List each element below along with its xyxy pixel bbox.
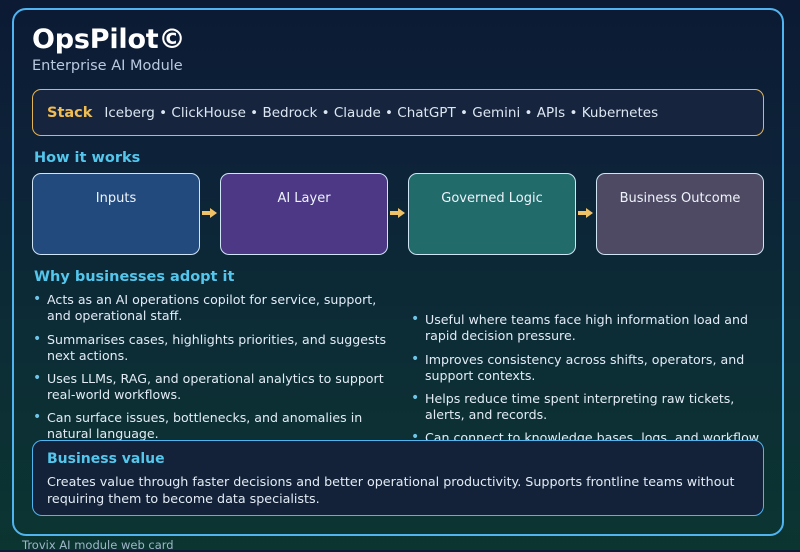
flow-arrow-icon [388,173,408,255]
list-item: Uses LLMs, RAG, and operational analytic… [32,371,398,403]
list-item: Useful where teams face high information… [410,312,764,344]
how-it-works-heading: How it works [34,150,764,166]
flow-arrow-icon [200,173,220,255]
flow-step-label: Inputs [96,191,136,206]
business-value-title: Business value [47,451,749,467]
flow-step-business-outcome: Business Outcome [596,173,764,255]
why-adopt-heading: Why businesses adopt it [34,269,764,285]
page-subtitle: Enterprise AI Module [32,59,764,75]
page-title: OpsPilot© [32,26,764,54]
list-item: Can surface issues, bottlenecks, and ano… [32,410,398,442]
flow-arrow-icon [576,173,596,255]
flow-diagram: Inputs AI Layer Governed Logic Business … [32,173,764,255]
list-item: Summarises cases, highlights priorities,… [32,332,398,364]
stack-label: Stack [47,105,92,121]
stack-banner: Stack Iceberg • ClickHouse • Bedrock • C… [32,89,764,136]
flow-step-label: Business Outcome [620,191,741,206]
module-card: OpsPilot© Enterprise AI Module Stack Ice… [12,8,784,536]
flow-step-label: Governed Logic [441,191,542,206]
flow-step-inputs: Inputs [32,173,200,255]
business-value-panel: Business value Creates value through fas… [32,440,764,516]
list-item: Improves consistency across shifts, oper… [410,352,764,384]
flow-step-ai-layer: AI Layer [220,173,388,255]
list-item: Helps reduce time spent interpreting raw… [410,391,764,423]
business-value-text: Creates value through faster decisions a… [47,474,749,508]
flow-step-governed-logic: Governed Logic [408,173,576,255]
stack-items: Iceberg • ClickHouse • Bedrock • Claude … [104,105,658,121]
flow-step-label: AI Layer [277,191,330,206]
list-item: Acts as an AI operations copilot for ser… [32,292,398,324]
